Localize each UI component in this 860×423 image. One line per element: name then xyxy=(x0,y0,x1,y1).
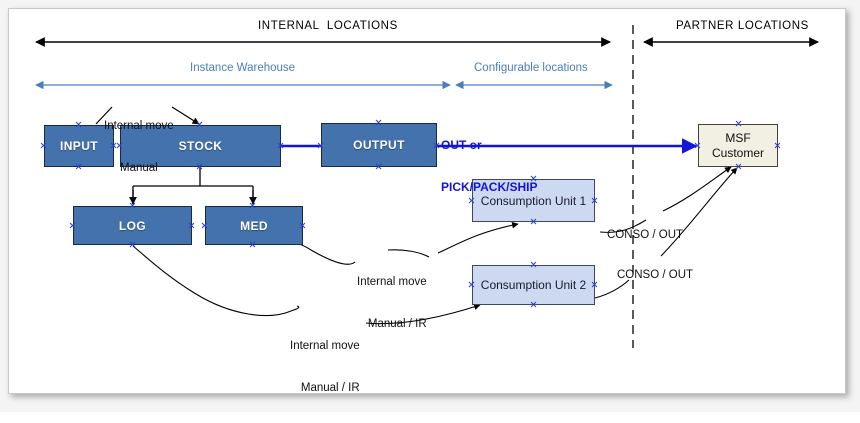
span-label-instance-warehouse: Instance Warehouse xyxy=(190,62,295,74)
edge-label-internal-move-ir-med-line2: Manual / IR xyxy=(357,317,427,331)
edge-label-internal-move-manual-line2: Manual xyxy=(104,161,174,175)
node-stock-label: STOCK xyxy=(179,139,223,153)
node-msf-customer[interactable]: MSF Customer xyxy=(698,124,778,167)
edge-label-internal-move-ir-med-line1: Internal move xyxy=(357,275,427,289)
edge-label-internal-move-ir-log-line2: Manual / IR xyxy=(290,381,360,395)
node-log[interactable]: LOG xyxy=(73,206,192,245)
node-output-label: OUTPUT xyxy=(353,138,405,152)
span-label-configurable-locations: Configurable locations xyxy=(474,62,588,74)
node-med-label: MED xyxy=(240,219,268,233)
node-log-label: LOG xyxy=(119,219,146,233)
edge-label-internal-move-ir-log-line1: Internal move xyxy=(290,339,360,353)
node-med[interactable]: MED xyxy=(205,206,303,245)
node-msf-customer-line1: MSF xyxy=(725,131,750,146)
edge-label-internal-move-manual-line1: Internal move xyxy=(104,119,174,133)
node-output[interactable]: OUTPUT xyxy=(321,123,437,167)
header-partner-locations: PARTNER LOCATIONS xyxy=(676,20,809,32)
node-msf-customer-line2: Customer xyxy=(712,146,764,161)
edge-label-out-pickpackship-line1: OUT or xyxy=(441,138,537,152)
edge-label-conso-out-2: CONSO / OUT xyxy=(617,268,693,282)
header-internal-locations: INTERNAL LOCATIONS xyxy=(258,20,398,32)
edge-cu1-to-msf xyxy=(600,167,731,232)
edge-label-internal-move-ir-log: Internal move Manual / IR xyxy=(290,311,360,423)
node-consumption-unit-2[interactable]: Consumption Unit 2 xyxy=(472,265,595,305)
node-consumption-unit-2-label: Consumption Unit 2 xyxy=(481,278,586,292)
edge-label-conso-out-1: CONSO / OUT xyxy=(607,228,683,242)
edge-label-internal-move-manual: Internal move Manual xyxy=(104,91,174,203)
edge-label-out-pickpackship: OUT or PICK/PACK/SHIP xyxy=(441,110,537,222)
edge-label-internal-move-ir-med: Internal move Manual / IR xyxy=(357,247,427,359)
diagram-canvas: INTERNAL LOCATIONS PARTNER LOCATIONS Ins… xyxy=(0,0,860,412)
edge-stock-internal-move xyxy=(172,107,199,124)
node-input-label: INPUT xyxy=(60,139,98,153)
edge-label-out-pickpackship-line2: PICK/PACK/SHIP xyxy=(441,180,537,194)
